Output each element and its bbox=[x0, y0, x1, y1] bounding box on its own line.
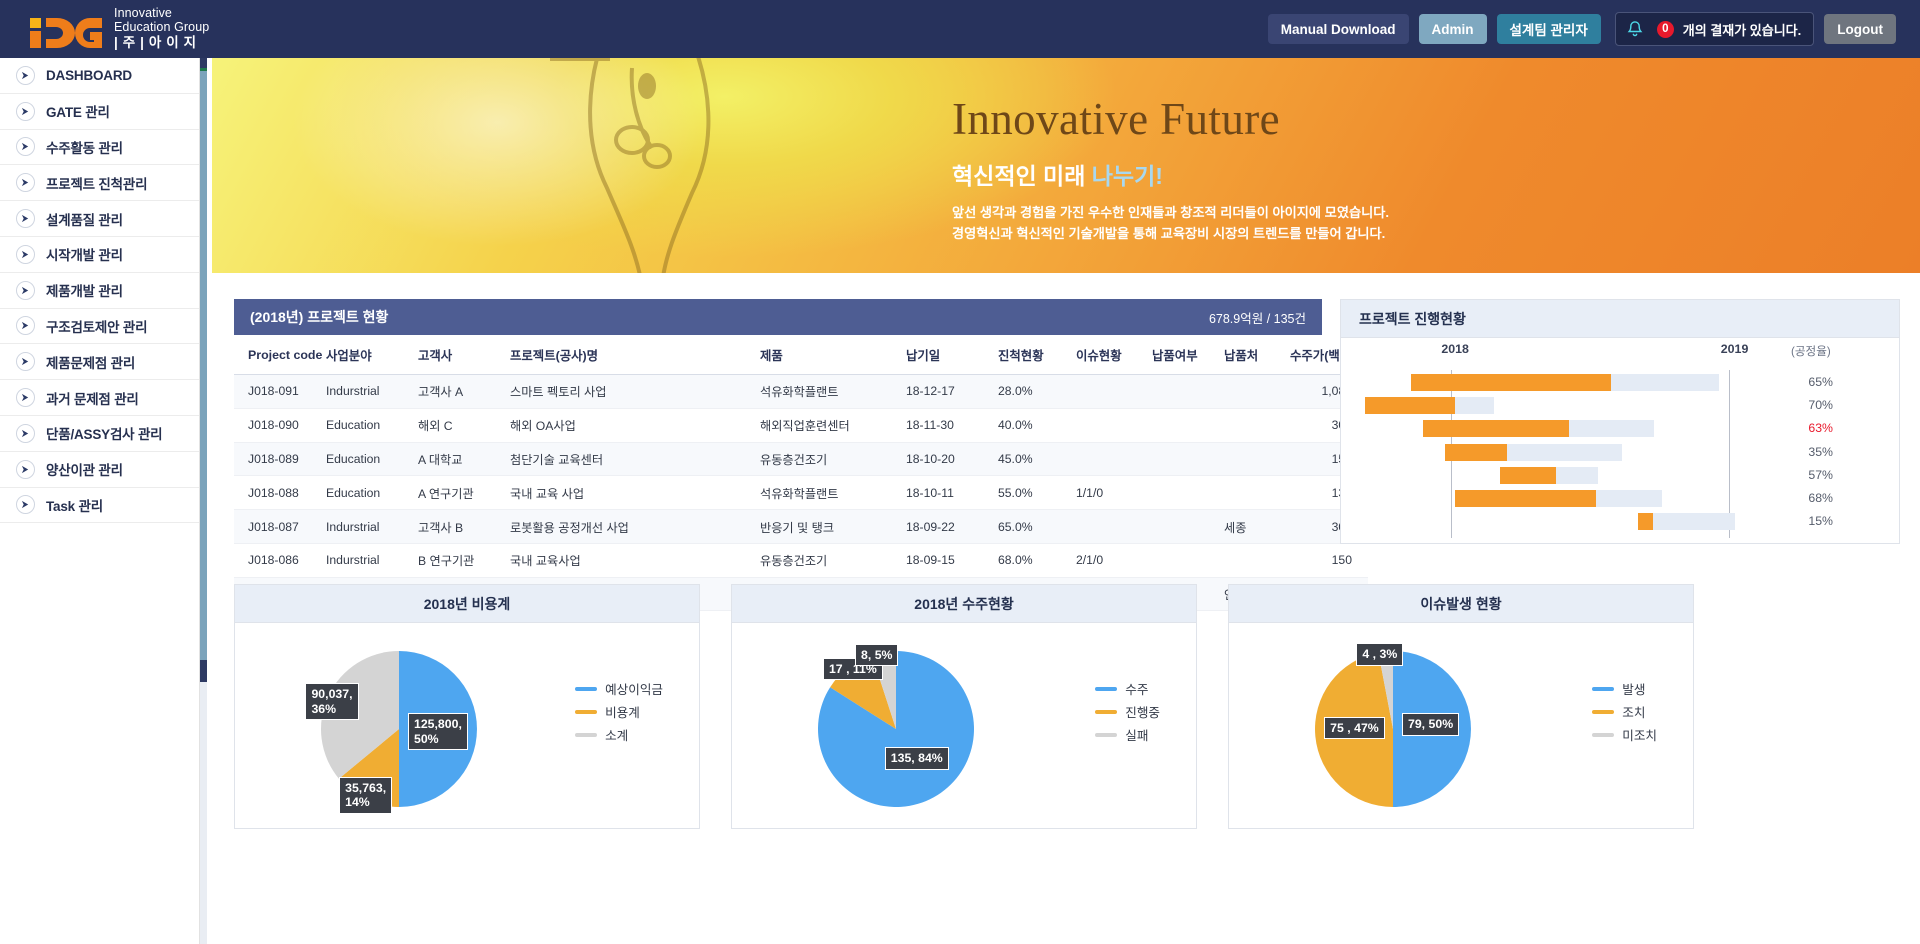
cell-progress[interactable]: 68.0% bbox=[998, 543, 1076, 577]
legend-swatch-icon bbox=[1592, 733, 1614, 737]
gantt-bar-fill bbox=[1445, 444, 1507, 461]
sidebar-item-label: GATE 관리 bbox=[46, 101, 110, 121]
gantt-axis-label-2018: 2018 bbox=[1441, 342, 1469, 356]
pie-data-label: 90,037, 36% bbox=[305, 683, 358, 720]
cell-delivered bbox=[1152, 375, 1224, 409]
logo-line-2: Education Group bbox=[114, 20, 209, 34]
pie-data-label: 75 , 47% bbox=[1324, 717, 1385, 740]
col-header-3: 고객사 bbox=[418, 335, 510, 375]
sidebar-item-label: 단품/ASSY검사 관리 bbox=[46, 423, 162, 443]
gantt-bar-row[interactable] bbox=[1445, 444, 1622, 461]
issue-pie-header: 이슈발생 현황 bbox=[1229, 585, 1693, 623]
pie-chart-svg bbox=[299, 633, 504, 823]
cell-customer: A 대학교 bbox=[418, 442, 510, 476]
legend-swatch-icon bbox=[575, 733, 597, 737]
sidebar-rail-marker bbox=[200, 68, 207, 71]
idg-logo-icon bbox=[28, 9, 106, 49]
col-header-6: 납기일 bbox=[906, 335, 998, 375]
cell-delivered bbox=[1152, 408, 1224, 442]
legend-label: 조치 bbox=[1622, 702, 1645, 721]
table-row[interactable]: J018-086IndurstrialB 연구기관국내 교육사업유동층건조기18… bbox=[234, 543, 1368, 577]
gantt-bar-row[interactable] bbox=[1500, 467, 1598, 484]
cell-progress[interactable]: 65.0% bbox=[998, 510, 1076, 544]
sidebar-item-label: 설계품질 관리 bbox=[46, 209, 123, 229]
cell-due: 18-09-22 bbox=[906, 510, 998, 544]
sidebar-item-label: 제품개발 관리 bbox=[46, 280, 123, 300]
cell-due: 18-10-20 bbox=[906, 442, 998, 476]
table-row[interactable]: J018-091Indurstrial고객사 A스마트 펙토리 사업석유화학플랜… bbox=[234, 375, 1368, 409]
chevron-right-icon bbox=[16, 66, 35, 85]
sidebar-item-4[interactable]: 프로젝트 진척관리 bbox=[0, 165, 199, 201]
table-row[interactable]: J018-087Indurstrial고객사 B로봇활용 공정개선 사업반응기 … bbox=[234, 510, 1368, 544]
sidebar-item-6[interactable]: 시작개발 관리 bbox=[0, 237, 199, 273]
sidebar-item-label: Task 관리 bbox=[46, 495, 103, 515]
cell-name: 국내 교육 사업 bbox=[510, 476, 760, 510]
col-header-10: 납품처 bbox=[1224, 335, 1290, 375]
cell-place bbox=[1224, 408, 1290, 442]
legend-swatch-icon bbox=[1095, 710, 1117, 714]
pie-data-label: 125,800, 50% bbox=[408, 713, 468, 750]
legend-item[interactable]: 미조치 bbox=[1592, 725, 1657, 744]
gantt-progress-percent: 65% bbox=[1789, 375, 1833, 389]
chevron-right-icon bbox=[16, 102, 35, 121]
cell-due: 18-10-11 bbox=[906, 476, 998, 510]
gantt-bar-track bbox=[1638, 513, 1734, 530]
logout-button[interactable]: Logout bbox=[1824, 14, 1896, 44]
gantt-unit-label: (공정율) bbox=[1791, 343, 1831, 359]
chevron-right-icon bbox=[16, 388, 35, 407]
chevron-right-icon bbox=[16, 173, 35, 192]
gantt-axis-label-2019: 2019 bbox=[1721, 342, 1749, 356]
cell-delivered bbox=[1152, 442, 1224, 476]
cell-field: Indurstrial bbox=[326, 375, 418, 409]
order-pie-title: 2018년 수주현황 bbox=[914, 594, 1013, 614]
sidebar-item-2[interactable]: GATE 관리 bbox=[0, 94, 199, 130]
approval-count-badge: 0 bbox=[1657, 21, 1674, 38]
gantt-bar-fill bbox=[1455, 490, 1596, 507]
table-row[interactable]: J018-090Education해외 C해외 OA사업해외직업훈련센터18-1… bbox=[234, 408, 1368, 442]
cell-delivered bbox=[1152, 476, 1224, 510]
gantt-bar-row[interactable] bbox=[1411, 374, 1719, 391]
cell-product: 반응기 및 탱크 bbox=[760, 510, 906, 544]
sidebar-item-3[interactable]: 수주활동 관리 bbox=[0, 130, 199, 166]
chevron-right-icon bbox=[16, 209, 35, 228]
legend-label: 발생 bbox=[1622, 679, 1645, 698]
gantt-bar-fill bbox=[1411, 374, 1611, 391]
col-header-4: 프로젝트(공사)명 bbox=[510, 335, 760, 375]
project-progress-panel: 프로젝트 진행현황 20182019(공정율)65%70%63%35%57%68… bbox=[1340, 299, 1900, 544]
cost-pie-header: 2018년 비용계 bbox=[235, 585, 699, 623]
top-header-bar: Innovative Education Group | 주 | 아 이 지 M… bbox=[0, 0, 1920, 58]
approval-alert-text: 개의 결재가 있습니다. bbox=[1683, 20, 1801, 39]
gantt-panel-header: 프로젝트 진행현황 bbox=[1341, 300, 1899, 338]
cell-place bbox=[1224, 476, 1290, 510]
sidebar-item-9[interactable]: 제품문제점 관리 bbox=[0, 344, 199, 380]
gantt-progress-percent: 57% bbox=[1789, 468, 1833, 482]
chevron-right-icon bbox=[16, 281, 35, 300]
cell-field: Indurstrial bbox=[326, 543, 418, 577]
chevron-right-icon bbox=[16, 245, 35, 264]
cell-product: 석유화학플랜트 bbox=[760, 476, 906, 510]
cell-product: 유동층건조기 bbox=[760, 543, 906, 577]
cell-code: J018-087 bbox=[234, 510, 326, 544]
cell-field: Education bbox=[326, 476, 418, 510]
legend-swatch-icon bbox=[1095, 687, 1117, 691]
cell-code: J018-086 bbox=[234, 543, 326, 577]
legend-label: 소계 bbox=[605, 725, 628, 744]
pie-legend: 발생조치미조치 bbox=[1592, 679, 1657, 748]
cell-code: J018-088 bbox=[234, 476, 326, 510]
logo-line-1: Innovative bbox=[114, 6, 209, 20]
legend-label: 진행중 bbox=[1125, 702, 1160, 721]
cell-code: J018-089 bbox=[234, 442, 326, 476]
logo-line-3: | 주 | 아 이 지 bbox=[114, 35, 209, 50]
left-sidebar-nav: DASHBOARDGATE 관리수주활동 관리프로젝트 진척관리설계품질 관리시… bbox=[0, 58, 200, 944]
sidebar-item-12[interactable]: 양산이관 관리 bbox=[0, 452, 199, 488]
pie-data-label: 8, 5% bbox=[855, 644, 898, 667]
gantt-bar-fill bbox=[1500, 467, 1556, 484]
cell-name: 첨단기술 교육센터 bbox=[510, 442, 760, 476]
gantt-bar-fill bbox=[1423, 420, 1569, 437]
project-table-body: J018-091Indurstrial고객사 A스마트 펙토리 사업석유화학플랜… bbox=[234, 375, 1368, 611]
chevron-right-icon bbox=[16, 424, 35, 443]
gantt-progress-percent: 15% bbox=[1789, 514, 1833, 528]
cell-customer: B 연구기관 bbox=[418, 543, 510, 577]
legend-item[interactable]: 실패 bbox=[1095, 725, 1160, 744]
gantt-bar-row[interactable] bbox=[1423, 420, 1654, 437]
brand-logo[interactable]: Innovative Education Group | 주 | 아 이 지 bbox=[0, 6, 209, 51]
pie-legend: 수주진행중실패 bbox=[1095, 679, 1160, 748]
cell-due: 18-11-30 bbox=[906, 408, 998, 442]
project-panel-summary: 678.9억원 / 135건 bbox=[1209, 308, 1306, 327]
sidebar-item-13[interactable]: Task 관리 bbox=[0, 488, 199, 524]
cell-product: 석유화학플랜트 bbox=[760, 375, 906, 409]
hero-desc-line-1: 앞선 생각과 경험을 가진 우수한 인재들과 창조적 리더들이 아이지에 모였습… bbox=[952, 203, 1389, 223]
gantt-bar-fill bbox=[1365, 397, 1455, 414]
gantt-progress-percent: 68% bbox=[1789, 491, 1833, 505]
pie-data-label: 4 , 3% bbox=[1356, 643, 1403, 666]
sidebar-rail-bottom-cap bbox=[200, 660, 207, 682]
pie-data-label: 135, 84% bbox=[885, 747, 949, 770]
lightbulb-illustration-icon bbox=[512, 58, 842, 273]
sidebar-item-8[interactable]: 구조검토제안 관리 bbox=[0, 309, 199, 345]
gantt-bar-row[interactable] bbox=[1365, 397, 1494, 414]
legend-item[interactable]: 예상이익금 bbox=[575, 679, 663, 698]
cell-name: 국내 교육사업 bbox=[510, 543, 760, 577]
sidebar-item-label: 시작개발 관리 bbox=[46, 244, 123, 264]
cell-place bbox=[1224, 442, 1290, 476]
cost-pie-body: 예상이익금비용계소계125,800, 50%35,763, 14%90,037,… bbox=[235, 623, 699, 829]
cell-field: Indurstrial bbox=[326, 510, 418, 544]
gantt-progress-percent: 70% bbox=[1789, 398, 1833, 412]
hero-subtitle: 혁신적인 미래 나누기! bbox=[952, 157, 1389, 191]
legend-item[interactable]: 소계 bbox=[575, 725, 663, 744]
cell-issue[interactable] bbox=[1076, 442, 1152, 476]
sidebar-item-label: 프로젝트 진척관리 bbox=[46, 173, 147, 193]
sidebar-item-10[interactable]: 과거 문제점 관리 bbox=[0, 380, 199, 416]
project-panel-header: (2018년) 프로젝트 현황 678.9억원 / 135건 bbox=[234, 299, 1322, 335]
pie-data-label: 79, 50% bbox=[1402, 713, 1459, 736]
cell-issue[interactable]: 2/1/0 bbox=[1076, 543, 1152, 577]
sidebar-item-label: 제품문제점 관리 bbox=[46, 352, 135, 372]
cell-price: 150 bbox=[1290, 543, 1368, 577]
gantt-bar-fill bbox=[1638, 513, 1652, 530]
issue-pie-panel: 이슈발생 현황 발생조치미조치79, 50%75 , 47%4 , 3% bbox=[1228, 584, 1694, 829]
issue-pie-title: 이슈발생 현황 bbox=[1420, 594, 1501, 614]
approval-alert[interactable]: 0 개의 결재가 있습니다. bbox=[1615, 12, 1814, 46]
cell-issue[interactable] bbox=[1076, 408, 1152, 442]
col-header-9: 납품여부 bbox=[1152, 335, 1224, 375]
col-header-8: 이슈현황 bbox=[1076, 335, 1152, 375]
sidebar-item-label: DASHBOARD bbox=[46, 68, 132, 83]
gantt-bar-row[interactable] bbox=[1638, 513, 1734, 530]
cell-field: Education bbox=[326, 408, 418, 442]
sidebar-item-label: 수주활동 관리 bbox=[46, 137, 123, 157]
cell-issue[interactable]: 1/1/0 bbox=[1076, 476, 1152, 510]
project-table: Project code사업분야고객사프로젝트(공사)명제품납기일진척현황이슈현… bbox=[234, 335, 1368, 611]
legend-swatch-icon bbox=[1592, 710, 1614, 714]
issue-pie-body: 발생조치미조치79, 50%75 , 47%4 , 3% bbox=[1229, 623, 1693, 829]
cell-customer: 고객사 A bbox=[418, 375, 510, 409]
sidebar-item-5[interactable]: 설계품질 관리 bbox=[0, 201, 199, 237]
legend-swatch-icon bbox=[575, 710, 597, 714]
gantt-chart: 20182019(공정율)65%70%63%35%57%68%15% bbox=[1341, 338, 1899, 544]
admin-button[interactable]: Admin bbox=[1419, 14, 1487, 44]
cell-name: 해외 OA사업 bbox=[510, 408, 760, 442]
legend-label: 실패 bbox=[1125, 725, 1148, 744]
cell-product: 유동층건조기 bbox=[760, 442, 906, 476]
sidebar-scrollbar-thumb[interactable] bbox=[200, 70, 207, 660]
legend-swatch-icon bbox=[575, 687, 597, 691]
sidebar-item-7[interactable]: 제품개발 관리 bbox=[0, 273, 199, 309]
header-actions: Manual Download Admin 설계팀 관리자 0 개의 결재가 있… bbox=[1268, 12, 1920, 46]
legend-label: 비용계 bbox=[605, 702, 640, 721]
cell-progress[interactable]: 28.0% bbox=[998, 375, 1076, 409]
hero-subtitle-part-1: 혁신적인 미래 bbox=[952, 163, 1092, 189]
project-panel-title: (2018년) 프로젝트 현황 bbox=[250, 307, 388, 327]
chevron-right-icon bbox=[16, 352, 35, 371]
cell-progress[interactable]: 55.0% bbox=[998, 476, 1076, 510]
gantt-panel-title: 프로젝트 진행현황 bbox=[1359, 309, 1466, 329]
project-table-header-row: Project code사업분야고객사프로젝트(공사)명제품납기일진척현황이슈현… bbox=[234, 335, 1368, 375]
sidebar-item-label: 과거 문제점 관리 bbox=[46, 388, 139, 408]
pie-data-label: 35,763, 14% bbox=[339, 777, 392, 814]
table-row[interactable]: J018-089EducationA 대학교첨단기술 교육센터유동층건조기18-… bbox=[234, 442, 1368, 476]
legend-item[interactable]: 발생 bbox=[1592, 679, 1657, 698]
legend-swatch-icon bbox=[1592, 687, 1614, 691]
col-header-1: Project code bbox=[234, 335, 326, 375]
cell-delivered bbox=[1152, 543, 1224, 577]
col-header-5: 제품 bbox=[760, 335, 906, 375]
order-pie-panel: 2018년 수주현황 수주진행중실패135, 84%17 , 11%8, 5% bbox=[731, 584, 1197, 829]
chevron-right-icon bbox=[16, 137, 35, 156]
legend-label: 미조치 bbox=[1622, 725, 1657, 744]
sidebar-item-1[interactable]: DASHBOARD bbox=[0, 58, 199, 94]
legend-item[interactable]: 조치 bbox=[1592, 702, 1657, 721]
cell-code: J018-091 bbox=[234, 375, 326, 409]
cell-code: J018-090 bbox=[234, 408, 326, 442]
gantt-progress-percent: 35% bbox=[1789, 445, 1833, 459]
cell-customer: 해외 C bbox=[418, 408, 510, 442]
col-header-7: 진척현황 bbox=[998, 335, 1076, 375]
legend-label: 수주 bbox=[1125, 679, 1148, 698]
hero-banner: Innovative Future 혁신적인 미래 나누기! 앞선 생각과 경험… bbox=[212, 58, 1920, 273]
cell-issue[interactable] bbox=[1076, 510, 1152, 544]
cell-place bbox=[1224, 543, 1290, 577]
design-team-manager-button[interactable]: 설계팀 관리자 bbox=[1497, 14, 1601, 44]
cell-place: 세종 bbox=[1224, 510, 1290, 544]
cost-pie-panel: 2018년 비용계 예상이익금비용계소계125,800, 50%35,763, … bbox=[234, 584, 700, 829]
cell-due: 18-12-17 bbox=[906, 375, 998, 409]
cell-customer: A 연구기관 bbox=[418, 476, 510, 510]
cell-product: 해외직업훈련센터 bbox=[760, 408, 906, 442]
legend-label: 예상이익금 bbox=[605, 679, 663, 698]
cost-pie-title: 2018년 비용계 bbox=[424, 594, 511, 614]
pie-legend: 예상이익금비용계소계 bbox=[575, 679, 663, 748]
chevron-right-icon bbox=[16, 460, 35, 479]
sidebar-item-label: 양산이관 관리 bbox=[46, 459, 123, 479]
cell-name: 로봇활용 공정개선 사업 bbox=[510, 510, 760, 544]
hero-title: Innovative Future bbox=[952, 96, 1389, 143]
legend-item[interactable]: 수주 bbox=[1095, 679, 1160, 698]
hero-desc-line-2: 경영혁신과 혁신적인 기술개발을 통해 교육장비 시장의 트렌드를 만들어 갑니… bbox=[952, 224, 1389, 244]
table-row[interactable]: J018-088EducationA 연구기관국내 교육 사업석유화학플랜트18… bbox=[234, 476, 1368, 510]
cell-progress[interactable]: 40.0% bbox=[998, 408, 1076, 442]
gantt-bar-row[interactable] bbox=[1455, 490, 1662, 507]
legend-swatch-icon bbox=[1095, 733, 1117, 737]
legend-item[interactable]: 진행중 bbox=[1095, 702, 1160, 721]
cell-due: 18-09-15 bbox=[906, 543, 998, 577]
cell-customer: 고객사 B bbox=[418, 510, 510, 544]
hero-subtitle-part-2: 나누기! bbox=[1092, 163, 1163, 189]
project-status-panel: (2018년) 프로젝트 현황 678.9억원 / 135건 Project c… bbox=[234, 299, 1322, 544]
cell-field: Education bbox=[326, 442, 418, 476]
sidebar-item-11[interactable]: 단품/ASSY검사 관리 bbox=[0, 416, 199, 452]
cell-place bbox=[1224, 375, 1290, 409]
legend-item[interactable]: 비용계 bbox=[575, 702, 663, 721]
bell-icon[interactable] bbox=[1622, 16, 1648, 42]
cell-delivered bbox=[1152, 510, 1224, 544]
chevron-right-icon bbox=[16, 495, 35, 514]
cell-progress[interactable]: 45.0% bbox=[998, 442, 1076, 476]
order-pie-header: 2018년 수주현황 bbox=[732, 585, 1196, 623]
col-header-2: 사업분야 bbox=[326, 335, 418, 375]
gantt-progress-percent: 63% bbox=[1789, 421, 1833, 435]
manual-download-button[interactable]: Manual Download bbox=[1268, 14, 1409, 44]
cell-issue[interactable] bbox=[1076, 375, 1152, 409]
order-pie-body: 수주진행중실패135, 84%17 , 11%8, 5% bbox=[732, 623, 1196, 829]
chevron-right-icon bbox=[16, 316, 35, 335]
sidebar-item-label: 구조검토제안 관리 bbox=[46, 316, 147, 336]
cell-name: 스마트 펙토리 사업 bbox=[510, 375, 760, 409]
